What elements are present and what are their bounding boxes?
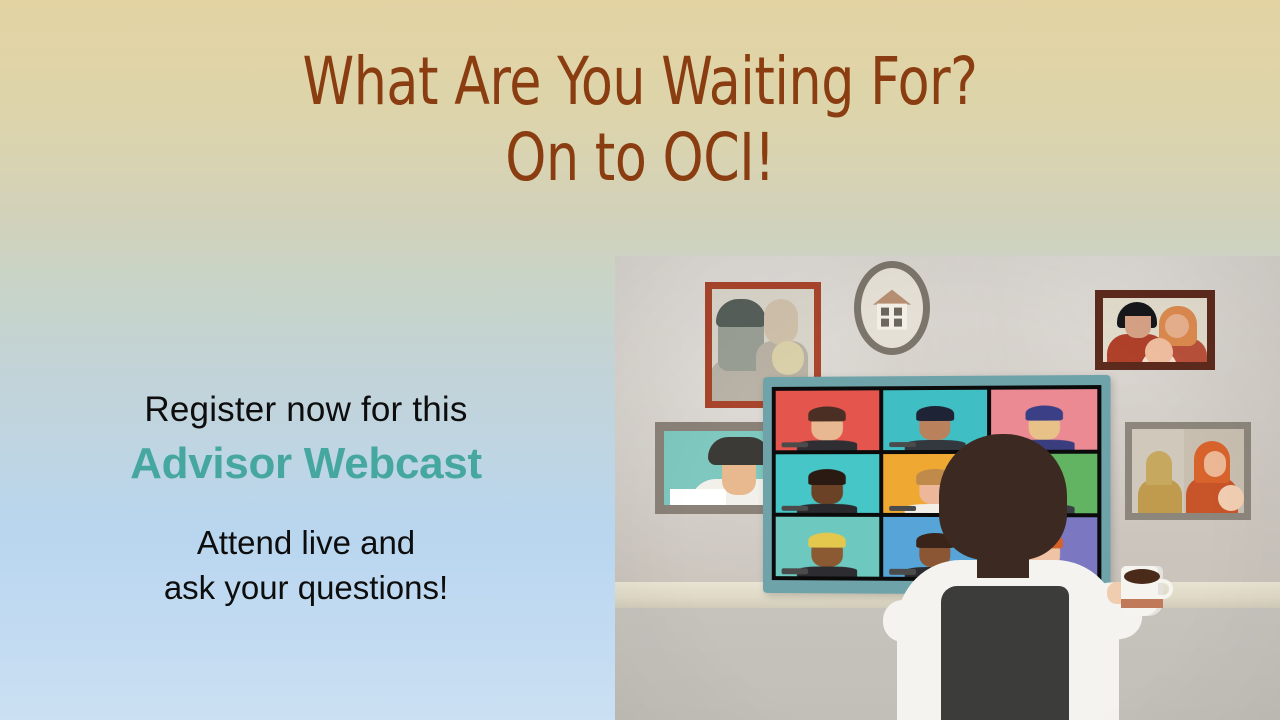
coffee-mug [1121, 566, 1163, 616]
participant-hair [809, 533, 846, 549]
participant-hair [809, 469, 846, 484]
title-line-1: What Are You Waiting For? [77, 44, 1203, 120]
video-tile-4 [776, 454, 879, 513]
person-vest [941, 586, 1069, 720]
left-text-column: Register now for this Advisor Webcast At… [0, 388, 612, 610]
title-line-2: On to OCI! [77, 120, 1203, 196]
frame-two-women [1125, 422, 1251, 520]
attend-line-2: ask your questions! [0, 565, 612, 610]
participant-hair [809, 406, 846, 422]
page-title: What Are You Waiting For? On to OCI! [77, 44, 1203, 196]
person-hair [939, 434, 1067, 560]
slide: What Are You Waiting For? On to OCI! Reg… [0, 0, 1280, 720]
participant-name-bar [782, 569, 809, 574]
participant-hair [916, 405, 954, 421]
register-lead-text: Register now for this [0, 388, 612, 432]
frame-family-photo [1095, 290, 1215, 370]
advisor-webcast-heading: Advisor Webcast [0, 434, 612, 494]
frame-left-teal-portrait-art [664, 431, 772, 505]
attend-line-1: Attend live and [0, 520, 612, 565]
frame-oval-house [861, 268, 923, 348]
person-back-view [891, 434, 1141, 720]
participant-name-bar [782, 505, 809, 510]
house-icon [873, 290, 911, 330]
video-tile-7 [776, 517, 879, 577]
illustration-image [615, 256, 1280, 720]
attend-text: Attend live and ask your questions! [0, 520, 612, 610]
participant-name-bar [782, 442, 809, 447]
frame-two-women-art [1132, 429, 1244, 513]
participant-hair [1025, 405, 1063, 421]
video-tile-1 [776, 390, 879, 450]
frame-family-photo-art [1103, 298, 1207, 362]
